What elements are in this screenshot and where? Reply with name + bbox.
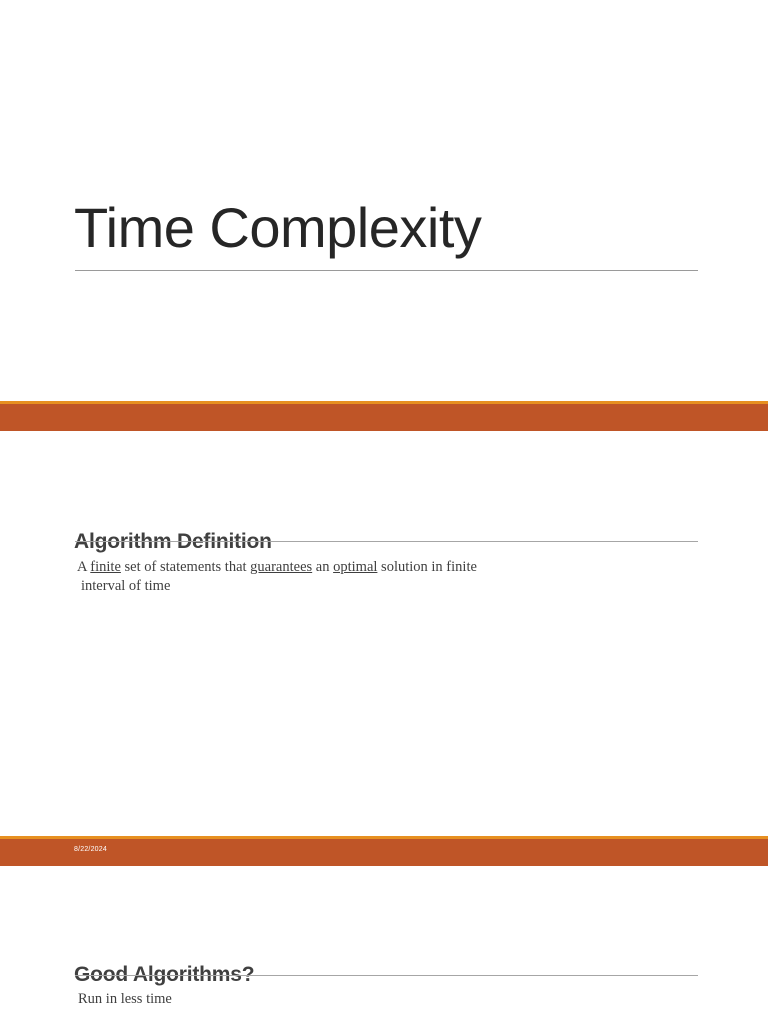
body-text-underlined-optimal: optimal (333, 559, 377, 575)
slide-body-algorithm-definition: A finite set of statements that guarante… (77, 558, 527, 595)
slide-body-good-algorithms: Run in less time (78, 990, 528, 1009)
body-text-underlined-finite: finite (90, 559, 121, 575)
body-text-fragment: set of statements that (121, 559, 250, 575)
title-underline-rule (75, 270, 698, 271)
slide-heading-algorithm-definition: Algorithm Definition (74, 530, 272, 554)
slide-separator-band-top (0, 401, 768, 431)
body-text-line-2: interval of time (77, 577, 527, 596)
slide-algorithm-definition: Algorithm Definition A finite set of sta… (0, 431, 768, 836)
heading-underline-rule (75, 541, 698, 542)
page-title: Time Complexity (74, 196, 481, 260)
slide-title: Time Complexity (0, 0, 768, 400)
body-text-line-1: Run in less time (78, 991, 172, 1007)
band-fill (0, 839, 768, 866)
slide-footer-band (0, 836, 768, 866)
heading-underline-rule (75, 975, 698, 976)
body-text-fragment: an (312, 559, 333, 575)
body-text-fragment: solution in finite (377, 559, 476, 575)
body-text-fragment: A (77, 559, 90, 575)
footer-date: 8/22/2024 (74, 846, 107, 853)
band-fill (0, 404, 768, 431)
body-text-underlined-guarantees: guarantees (250, 559, 312, 575)
slide-good-algorithms: Good Algorithms? Run in less time (0, 866, 768, 1024)
